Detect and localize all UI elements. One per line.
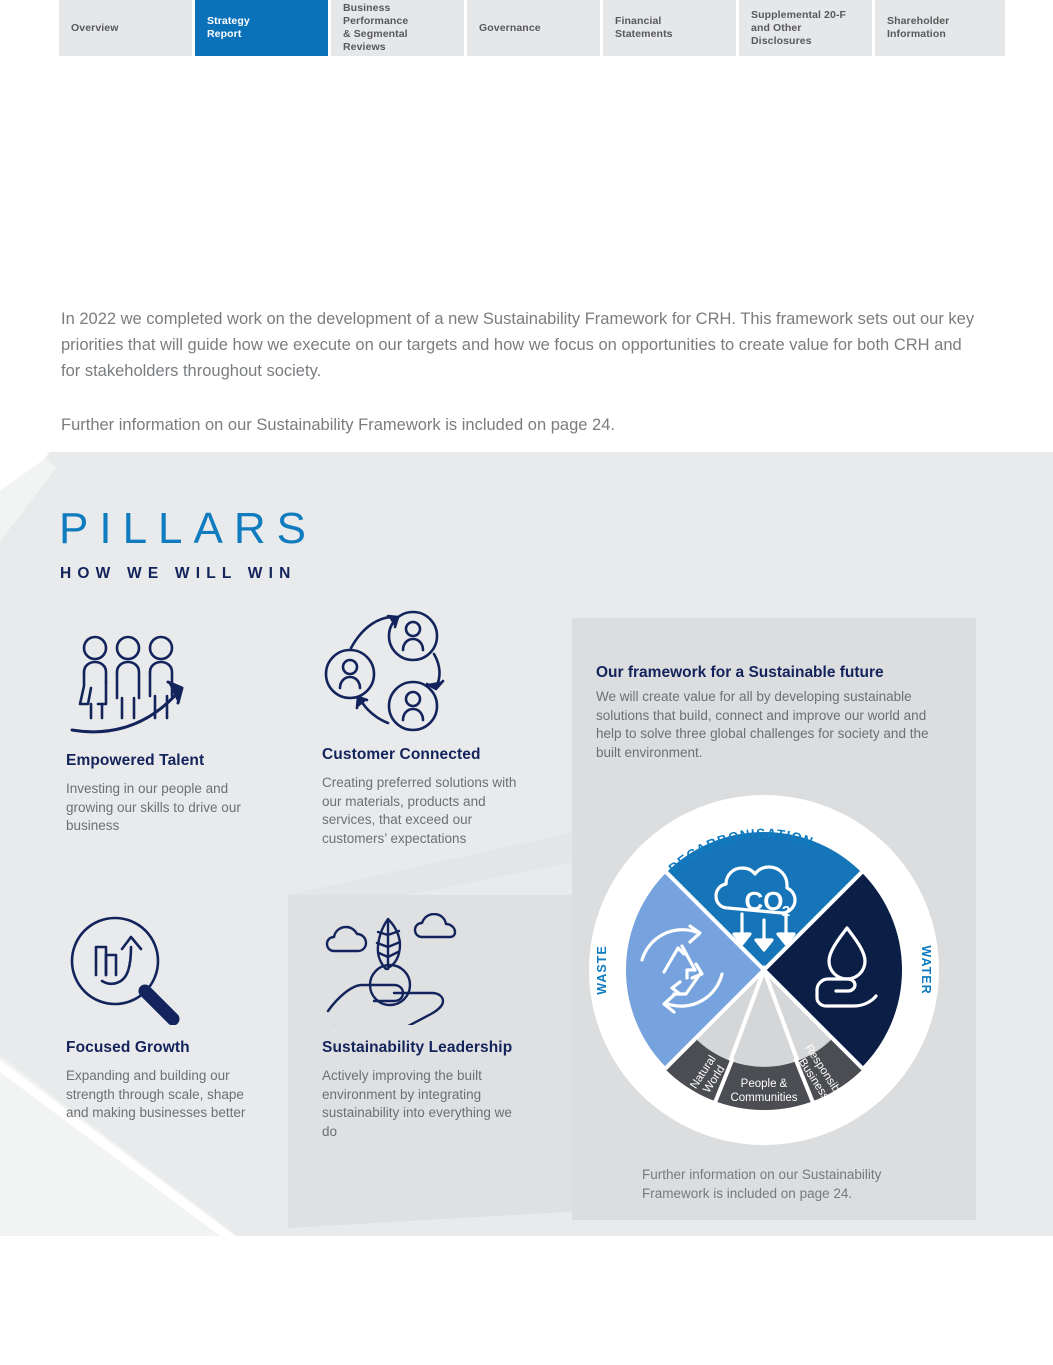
nav-tab-shareholder-information[interactable]: Shareholder Information bbox=[875, 0, 1005, 56]
sustainability-framework-wheel: CO 2 bbox=[584, 790, 944, 1150]
svg-text:CO: CO bbox=[745, 886, 784, 916]
pillar-body: Creating preferred solutions with our ma… bbox=[322, 774, 522, 848]
wheel-label-waste: WASTE bbox=[595, 945, 609, 994]
pillar-heading: Focused Growth bbox=[66, 1039, 251, 1057]
svg-text:People &: People & bbox=[741, 1078, 788, 1090]
pillar-heading: Empowered Talent bbox=[66, 752, 251, 770]
nav-tab-governance[interactable]: Governance bbox=[467, 0, 600, 56]
wheel-label-water: WATER bbox=[919, 945, 933, 994]
nav-tab-overview[interactable]: Overview bbox=[59, 0, 192, 56]
pillar-body: Actively improving the built environment… bbox=[322, 1067, 522, 1141]
pillar-sustainability-leadership: Sustainability Leadership Actively impro… bbox=[322, 905, 522, 1141]
page-root: Overview Strategy Report Business Perfor… bbox=[0, 0, 1053, 1365]
nav-tab-financial-statements[interactable]: Financial Statements bbox=[603, 0, 736, 56]
nav-tab-strategy-report[interactable]: Strategy Report bbox=[195, 0, 328, 56]
pillar-heading: Customer Connected bbox=[322, 746, 522, 764]
magnifier-growth-chart-icon bbox=[66, 905, 251, 1025]
page-title: PILLARS bbox=[59, 505, 317, 553]
intro-paragraph-1: In 2022 we completed work on the develop… bbox=[61, 306, 981, 384]
three-people-growth-arrow-icon bbox=[66, 618, 251, 738]
pillar-empowered-talent: Empowered Talent Investing in our people… bbox=[66, 618, 251, 836]
people-circular-connection-icon bbox=[322, 612, 522, 732]
intro-copy: In 2022 we completed work on the develop… bbox=[61, 306, 981, 438]
framework-heading: Our framework for a Sustainable future bbox=[596, 664, 956, 682]
framework-note: Further information on our Sustainabilit… bbox=[642, 1166, 932, 1203]
top-navigation-bar: Overview Strategy Report Business Perfor… bbox=[0, 0, 1053, 56]
svg-text:Communities: Communities bbox=[730, 1092, 797, 1104]
framework-description: We will create value for all by developi… bbox=[596, 688, 954, 762]
pillar-customer-connected: Customer Connected Creating preferred so… bbox=[322, 612, 522, 848]
nav-tab-business-performance[interactable]: Business Performance & Segmental Reviews bbox=[331, 0, 464, 56]
pillar-body: Investing in our people and growing our … bbox=[66, 780, 251, 836]
pillar-heading: Sustainability Leadership bbox=[322, 1039, 522, 1057]
intro-paragraph-2: Further information on our Sustainabilit… bbox=[61, 412, 981, 438]
nav-tab-supplemental-20f[interactable]: Supplemental 20-F and Other Disclosures bbox=[739, 0, 872, 56]
hand-plant-clouds-icon bbox=[322, 905, 522, 1025]
framework-panel: Our framework for a Sustainable future W… bbox=[572, 618, 976, 1220]
pillar-focused-growth: Focused Growth Expanding and building ou… bbox=[66, 905, 251, 1123]
page-subtitle: HOW WE WILL WIN bbox=[60, 565, 297, 583]
nav-left-spacer bbox=[0, 0, 59, 56]
pillar-body: Expanding and building our strength thro… bbox=[66, 1067, 251, 1123]
